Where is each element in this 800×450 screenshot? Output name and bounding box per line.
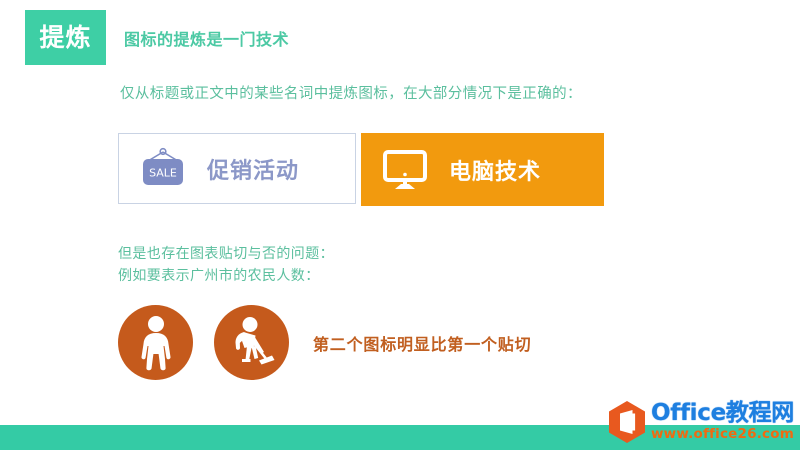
sale-tag-icon: SALE <box>119 146 207 192</box>
card-computer-tech-label: 电脑技术 <box>449 154 541 186</box>
pictogram-standing-person <box>118 305 193 380</box>
page-title: 图标的提炼是一门技术 <box>124 26 289 50</box>
middle-line-2: 例如要表示广州市的农民人数： <box>118 265 334 287</box>
middle-line-1: 但是也存在图表贴切与否的问题： <box>118 243 334 265</box>
desktop-monitor-icon <box>361 147 449 193</box>
section-badge: 提炼 <box>25 10 106 65</box>
svg-text:SALE: SALE <box>149 166 177 179</box>
office-hexagon-logo <box>607 400 647 444</box>
pictogram-row: 第二个图标明显比第一个贴切 <box>118 305 531 380</box>
farmer-sweeping-person-icon <box>224 315 280 371</box>
watermark-site-url: www.office26.com <box>651 428 794 442</box>
slide-header: 提炼 图标的提炼是一门技术 <box>25 10 289 65</box>
intro-paragraph: 仅从标题或正文中的某些名词中提炼图标，在大部分情况下是正确的： <box>120 82 582 103</box>
section-badge-label: 提炼 <box>39 25 91 50</box>
watermark-text: Office教程网 www.office26.com <box>651 402 794 442</box>
comparison-note: 第二个图标明显比第一个贴切 <box>313 331 531 355</box>
pictogram-farmer-sweeping <box>214 305 289 380</box>
middle-paragraph: 但是也存在图表贴切与否的问题： 例如要表示广州市的农民人数： <box>118 243 334 287</box>
example-card-row: SALE 促销活动 电脑技术 <box>118 133 604 206</box>
watermark-site-name: Office教程网 <box>651 402 794 425</box>
card-promotion: SALE 促销活动 <box>118 133 356 204</box>
site-watermark: Office教程网 www.office26.com <box>607 400 794 444</box>
card-computer-tech: 电脑技术 <box>361 133 604 206</box>
card-promotion-label: 促销活动 <box>207 153 299 185</box>
standing-person-icon <box>134 315 178 371</box>
